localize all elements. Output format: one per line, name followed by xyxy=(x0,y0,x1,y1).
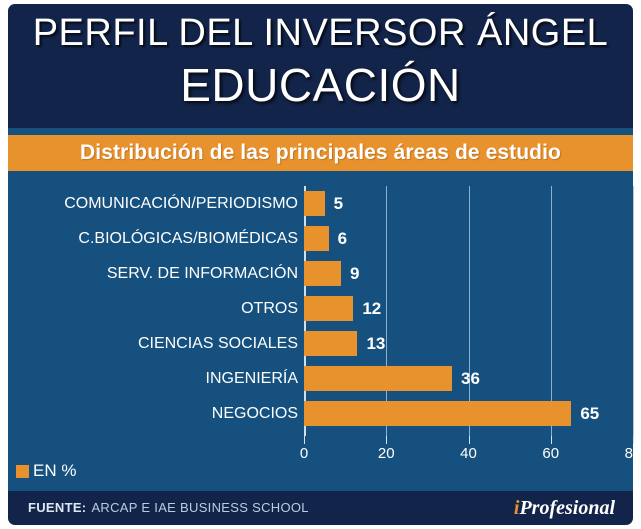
category-label: INGENIERÍA xyxy=(8,361,298,396)
bar xyxy=(304,191,325,216)
category-label: NEGOCIOS xyxy=(8,396,298,431)
tick-label: 40 xyxy=(449,445,489,462)
bar-value-label: 36 xyxy=(461,361,480,396)
source-text: ARCAP E IAE BUSINESS SCHOOL xyxy=(91,500,308,515)
page-subtitle-heading: EDUCACIÓN xyxy=(8,56,633,114)
tick-label: 80 xyxy=(613,445,641,462)
tick-label: 0 xyxy=(284,445,324,462)
bar xyxy=(304,331,357,356)
x-axis: 020406080 xyxy=(8,436,633,466)
bar-value-label: 5 xyxy=(334,186,343,221)
infographic-root: PERFIL DEL INVERSOR ÁNGEL EDUCACIÓN Dist… xyxy=(0,0,641,529)
tick-mark xyxy=(551,436,552,444)
bar xyxy=(304,226,329,251)
tick-mark xyxy=(304,436,305,444)
tick-label: 20 xyxy=(366,445,406,462)
brand-logo: iProfesional xyxy=(514,491,615,525)
tick-mark xyxy=(386,436,387,444)
bar-row: CIENCIAS SOCIALES13 xyxy=(8,326,633,361)
chart-legend: EN % xyxy=(16,459,76,483)
category-label: CIENCIAS SOCIALES xyxy=(8,326,298,361)
bar-row: SERV. DE INFORMACIÓN9 xyxy=(8,256,633,291)
bar-chart: COMUNICACIÓN/PERIODISMO5C.BIOLÓGICAS/BIO… xyxy=(8,186,633,436)
page-title: PERFIL DEL INVERSOR ÁNGEL xyxy=(8,10,633,56)
bar-value-label: 13 xyxy=(366,326,385,361)
legend-swatch-icon xyxy=(16,465,29,478)
bar xyxy=(304,366,452,391)
brand-logo-name: Profesional xyxy=(519,497,615,519)
bar-value-label: 9 xyxy=(350,256,359,291)
gridline xyxy=(633,186,634,436)
tick-mark xyxy=(633,436,634,444)
category-label: COMUNICACIÓN/PERIODISMO xyxy=(8,186,298,221)
section-title-text: Distribución de las principales áreas de… xyxy=(8,135,633,171)
legend-label: EN % xyxy=(33,461,76,481)
category-label: C.BIOLÓGICAS/BIOMÉDICAS xyxy=(8,221,298,256)
bar-row: NEGOCIOS65 xyxy=(8,396,633,431)
bar-value-label: 6 xyxy=(338,221,347,256)
tick-mark xyxy=(469,436,470,444)
section-title-bar: Distribución de las principales áreas de… xyxy=(8,135,633,171)
bar-row: C.BIOLÓGICAS/BIOMÉDICAS6 xyxy=(8,221,633,256)
bar-value-label: 12 xyxy=(362,291,381,326)
footer-bar: FUENTE:ARCAP E IAE BUSINESS SCHOOL iProf… xyxy=(8,491,633,525)
bar xyxy=(304,296,353,321)
tick-label: 60 xyxy=(531,445,571,462)
bar xyxy=(304,401,571,426)
bar-row: COMUNICACIÓN/PERIODISMO5 xyxy=(8,186,633,221)
chart-panel: Distribución de las principales áreas de… xyxy=(8,128,633,491)
category-label: OTROS xyxy=(8,291,298,326)
source-credit: FUENTE:ARCAP E IAE BUSINESS SCHOOL xyxy=(28,491,309,525)
category-label: SERV. DE INFORMACIÓN xyxy=(8,256,298,291)
bar-value-label: 65 xyxy=(580,396,599,431)
bar-row: INGENIERÍA36 xyxy=(8,361,633,396)
bar xyxy=(304,261,341,286)
header-banner: PERFIL DEL INVERSOR ÁNGEL EDUCACIÓN xyxy=(8,4,633,128)
bar-row: OTROS12 xyxy=(8,291,633,326)
source-label: FUENTE: xyxy=(28,500,86,515)
